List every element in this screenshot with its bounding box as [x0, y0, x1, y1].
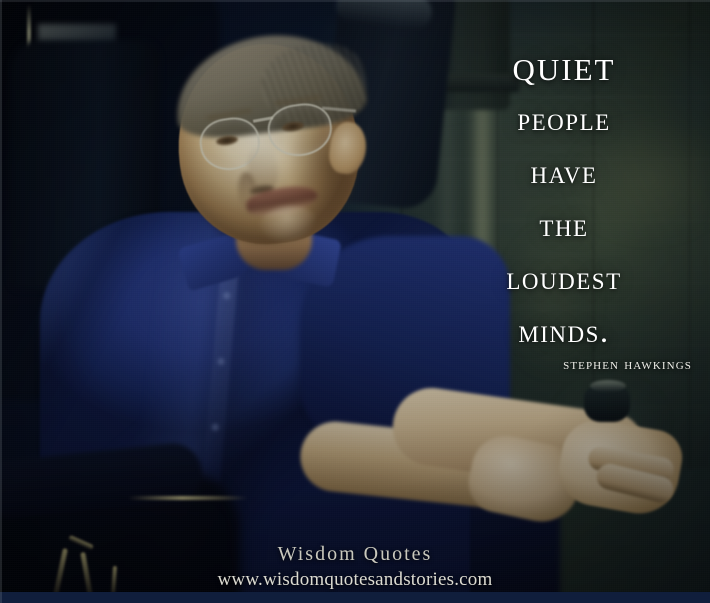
website-url: www.wisdomquotesandstories.com — [0, 569, 710, 591]
quote-poster: Quiet people have the loudest minds. Ste… — [0, 0, 710, 603]
quote-line: loudest — [428, 263, 700, 296]
quote-line: the — [428, 210, 700, 243]
shirt-button — [217, 358, 225, 366]
quote-block: Quiet people have the loudest minds. — [428, 44, 700, 349]
wheelchair-control-knob-highlight — [590, 380, 626, 392]
left-edge-border — [0, 0, 2, 603]
quote-line: people — [428, 104, 700, 137]
quote-line: Quiet — [428, 44, 700, 88]
metal-highlight — [128, 496, 248, 500]
shirt-button — [211, 423, 219, 431]
shirt-button — [223, 292, 231, 300]
footer-watermark: Wisdom Quotes www.wisdomquotesandstories… — [0, 543, 710, 591]
quote-attribution: Stephen Hawkings — [428, 356, 700, 374]
top-edge-border — [0, 0, 710, 2]
bottom-band — [0, 592, 710, 603]
brand-name: Wisdom Quotes — [0, 543, 710, 566]
quote-line: minds. — [428, 316, 700, 349]
quote-line: have — [428, 157, 700, 190]
